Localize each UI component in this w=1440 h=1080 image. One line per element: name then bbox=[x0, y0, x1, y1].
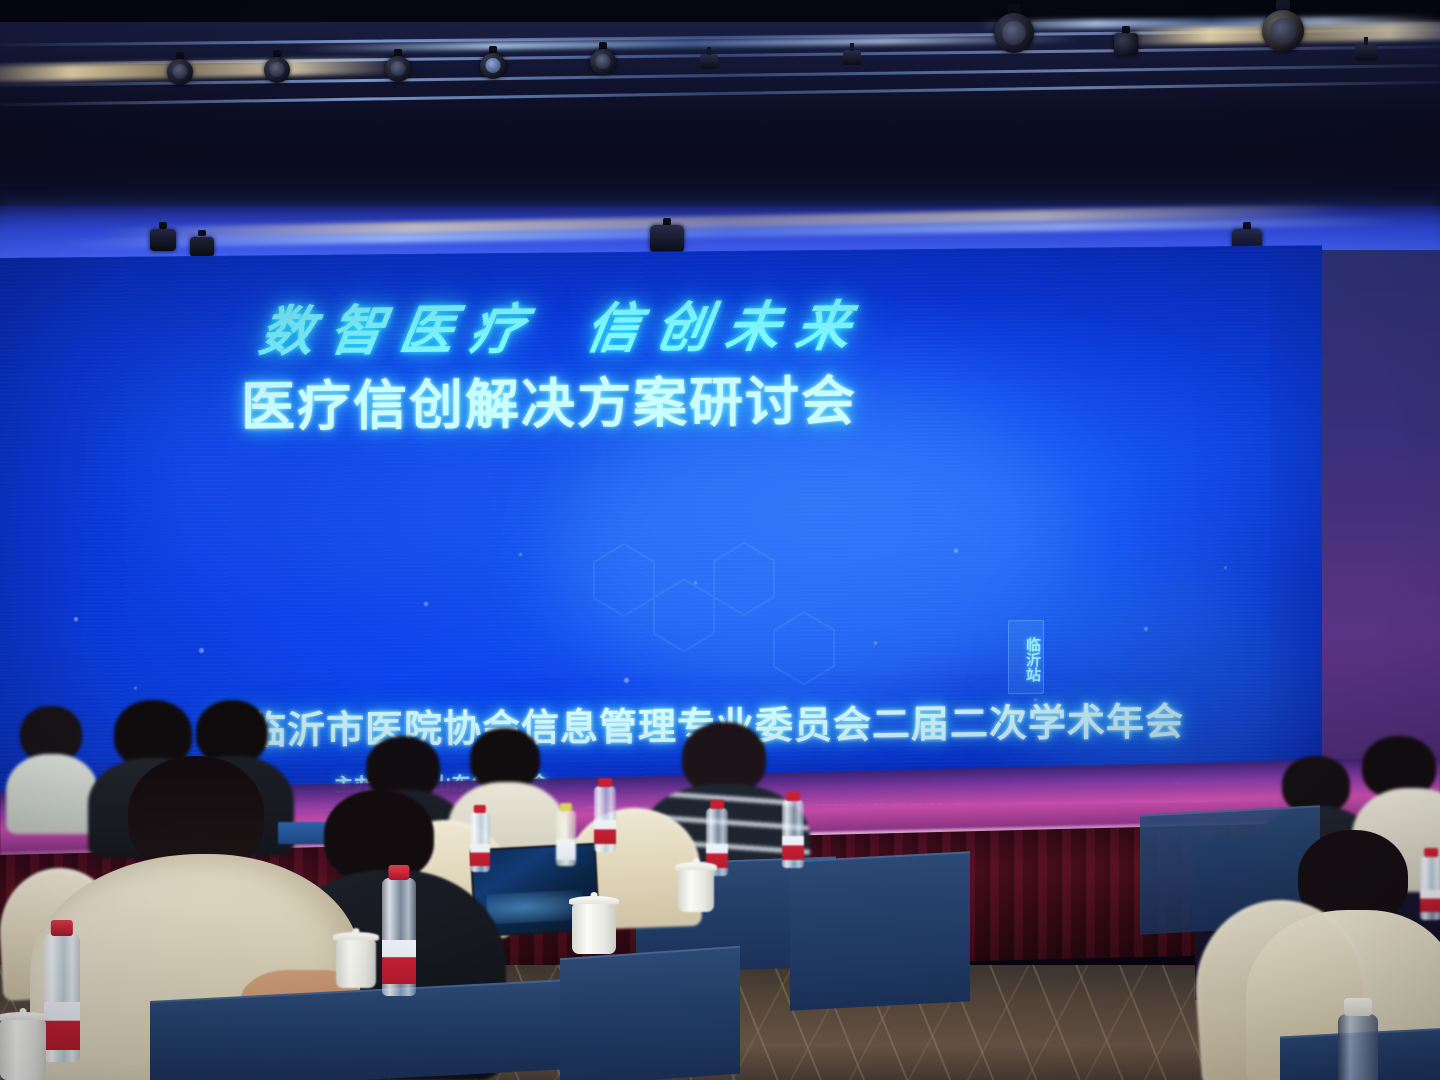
conference-room-photo: 数智医疗信创未来 医疗信创解决方案研讨会 临沂站 暨临沂市医院协会信息管理专业委… bbox=[0, 0, 1440, 1080]
water-bottle bbox=[1420, 856, 1440, 920]
stage-light-par-can bbox=[700, 54, 718, 69]
stage-light-par-can bbox=[1355, 44, 1377, 61]
stage-light-moving-head bbox=[588, 42, 618, 82]
stage-light-moving-head bbox=[994, 4, 1034, 58]
tea-cup bbox=[336, 932, 376, 988]
water-bottle bbox=[470, 812, 490, 872]
stage-light-par-can bbox=[843, 50, 861, 65]
water-bottle bbox=[1338, 1014, 1378, 1080]
stage-light-moving-head bbox=[477, 46, 509, 88]
water-bottle bbox=[782, 800, 804, 868]
audience-table bbox=[560, 946, 740, 1080]
tea-cup bbox=[572, 896, 616, 954]
stage-light-moving-head bbox=[165, 52, 195, 92]
water-bottle bbox=[44, 934, 80, 1062]
tea-cup bbox=[678, 862, 714, 912]
tea-cup bbox=[0, 1012, 46, 1080]
audience-table bbox=[790, 851, 970, 1010]
stage-light-moving-head bbox=[262, 50, 292, 90]
water-bottle bbox=[594, 786, 616, 852]
stage-light-moving-head bbox=[1112, 26, 1140, 64]
water-bottle bbox=[382, 878, 416, 996]
water-bottle bbox=[556, 810, 576, 866]
stage-light-moving-head bbox=[1262, 0, 1304, 58]
stage-light-moving-head bbox=[383, 49, 413, 89]
stage-light-moving-head bbox=[150, 222, 176, 258]
ceiling bbox=[0, 0, 1440, 262]
